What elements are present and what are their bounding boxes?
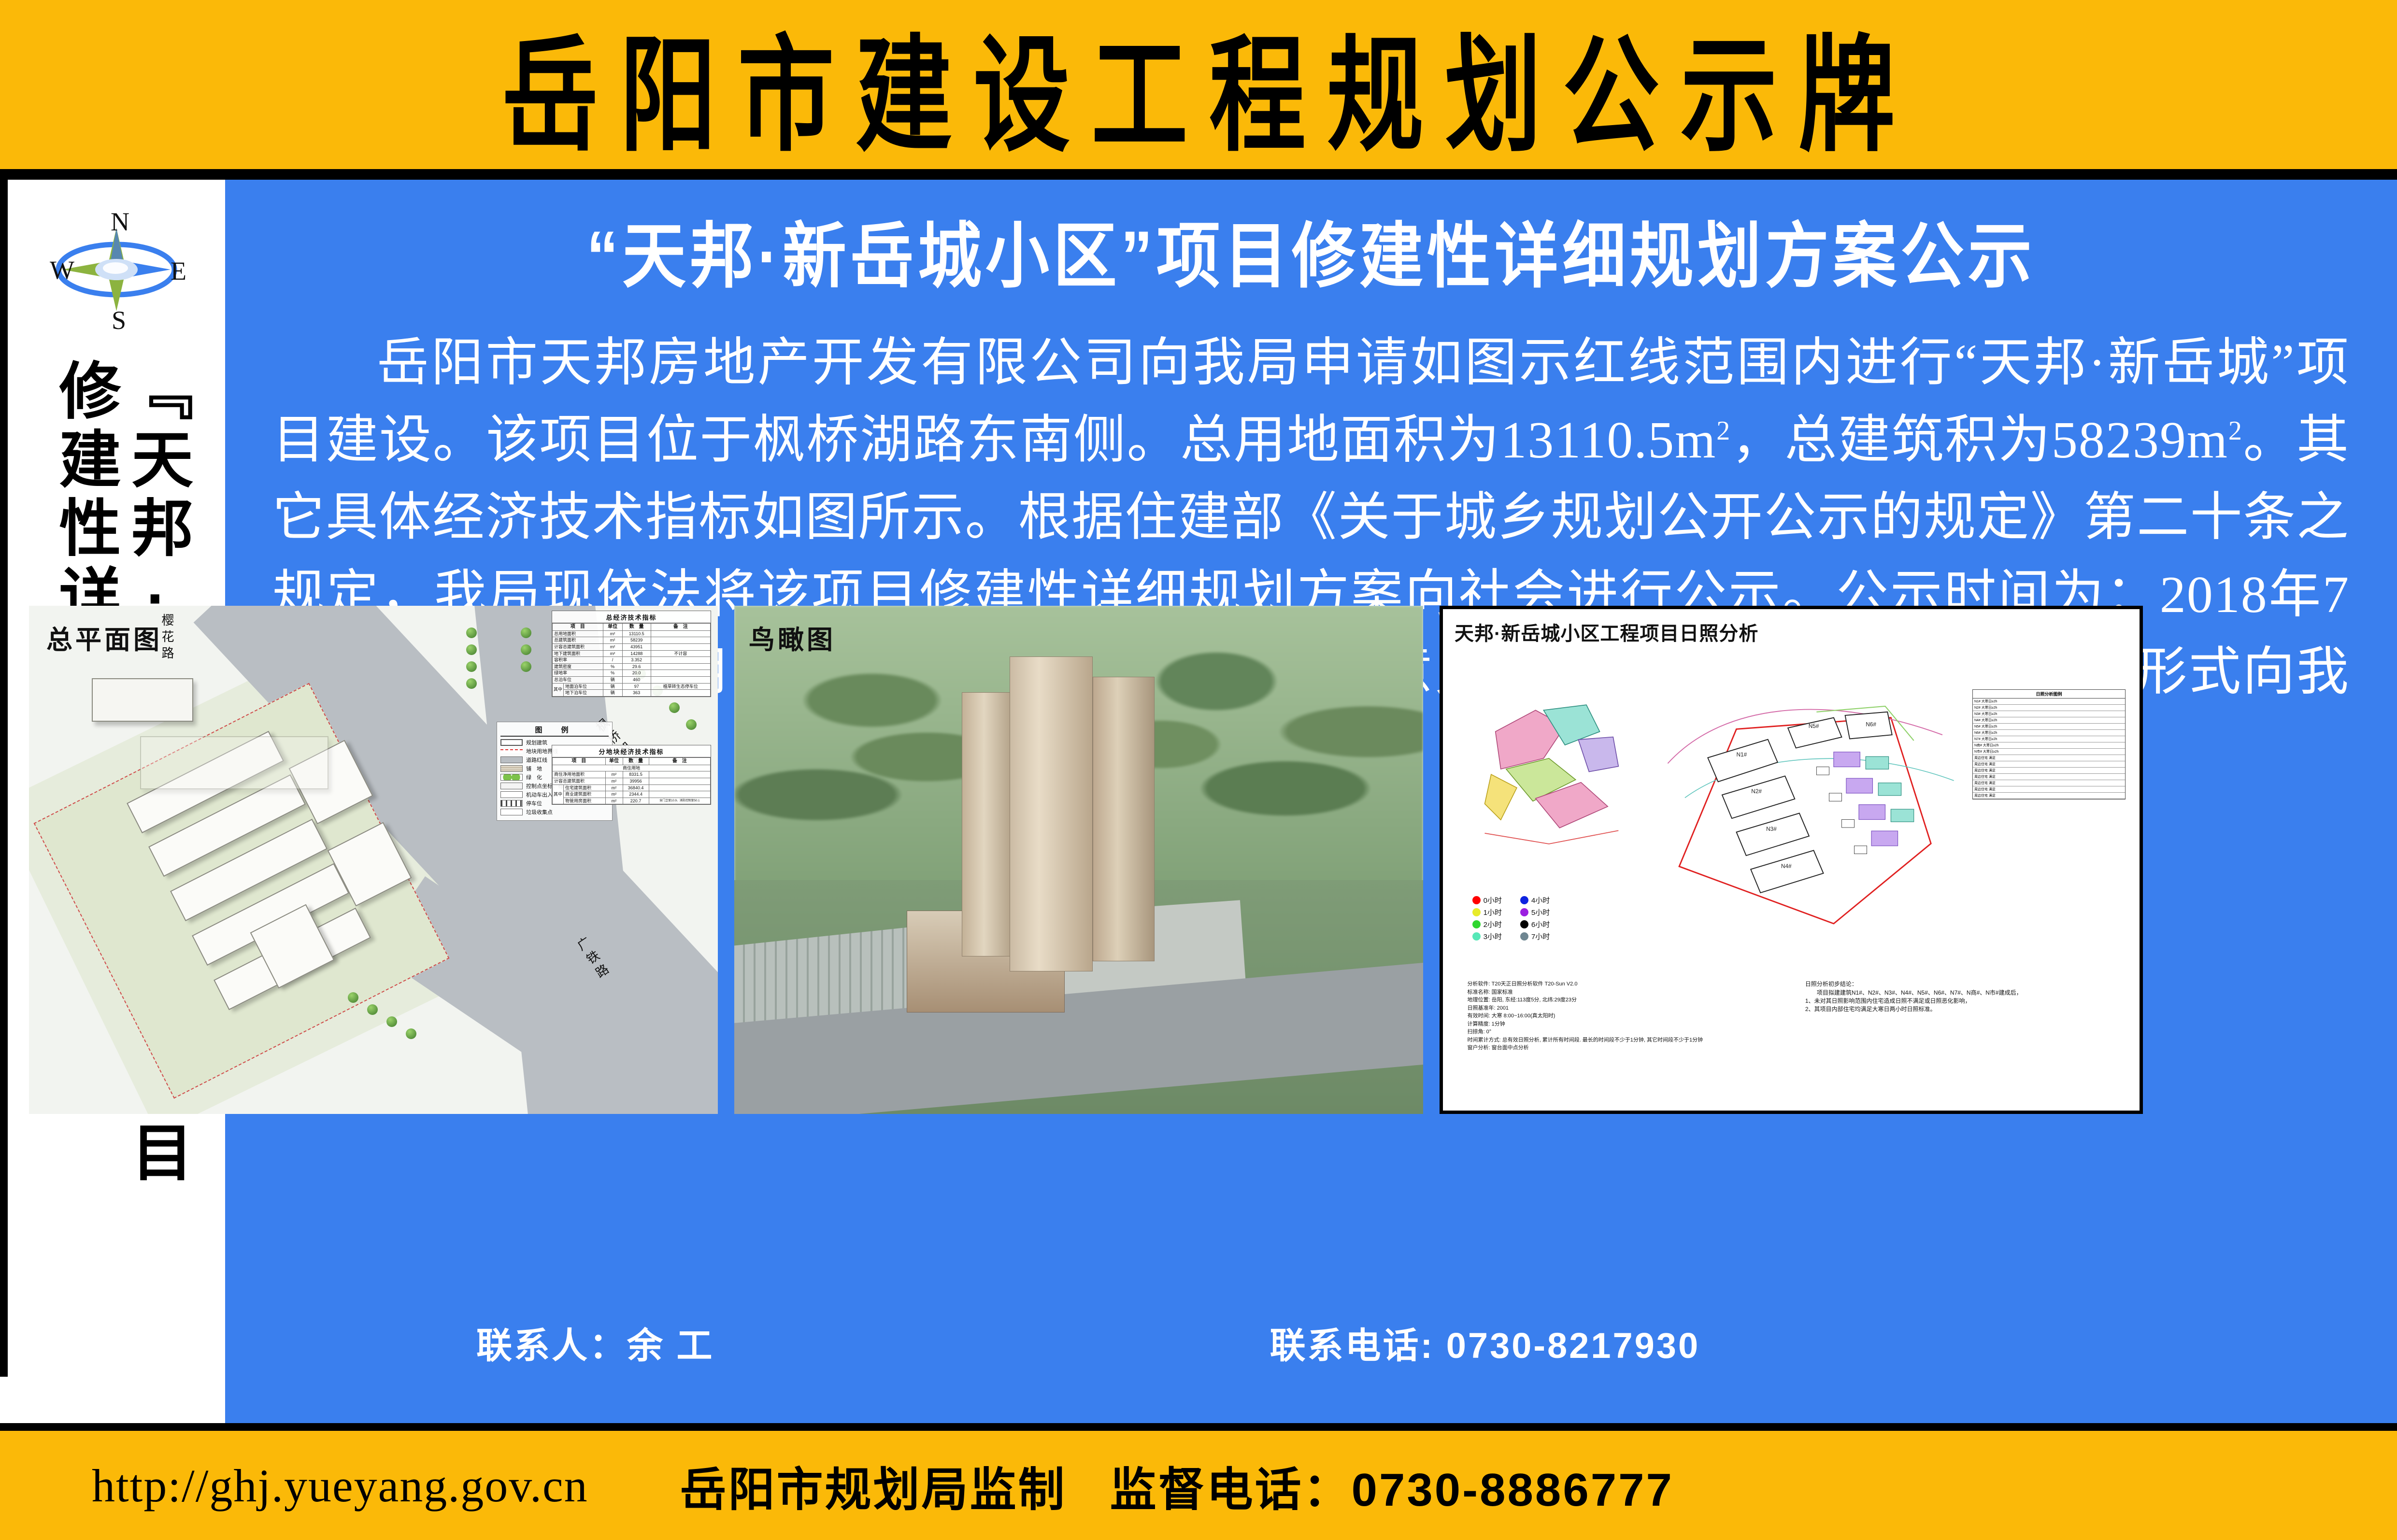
param-line: 扫掠角: 0°	[1467, 1028, 1718, 1036]
cell: 460	[622, 677, 651, 684]
legend-item: 1小时	[1472, 907, 1502, 917]
hour-dot-icon	[1520, 896, 1528, 904]
tree-icon	[406, 1028, 416, 1039]
sunlight-table-title: 日照分析图例	[1973, 690, 2125, 699]
cell: 20.0	[622, 670, 651, 677]
cell: 不计容	[651, 650, 710, 657]
tree-icon	[686, 719, 697, 730]
table-row: 计容总建筑面积m²43951	[553, 644, 711, 651]
table-row: N6# 大寒日≥2h	[1973, 730, 2125, 736]
board-footer: http://ghj.yueyang.gov.cn 岳阳市规划局监制 监督电话：…	[0, 1423, 2397, 1540]
cell	[651, 670, 710, 677]
cell	[651, 677, 710, 684]
table-row: 容积率/3.352	[553, 657, 711, 664]
cell: m²	[603, 630, 622, 637]
param-line: 分析软件: T20天正日照分析软件 T20-Sun V2.0	[1467, 980, 1718, 988]
cell: 住宅建筑面积	[564, 784, 605, 791]
legend-swatch-coordinate-icon	[500, 783, 523, 789]
table: 项 目 单位 数 量 备 注 总用地面积m²13110.5 总建筑面积m²582…	[552, 623, 711, 697]
legend-label: 铺 地	[526, 765, 542, 772]
conclusion-title: 日照分析初步结论：	[1805, 980, 2126, 988]
cell: 总用地面积	[553, 630, 603, 637]
cell: m²	[603, 644, 622, 651]
param-line: 标准名称: 国家标准	[1467, 988, 1718, 997]
legend-label: 2小时	[1484, 919, 1502, 929]
cell: 辆	[603, 683, 622, 690]
compass-west-label: W	[50, 255, 74, 285]
cell: 绿地率	[553, 670, 603, 677]
panel-caption-site-plan: 总平面图	[46, 618, 162, 656]
cell: 容积率	[553, 657, 603, 664]
table: 项 目 单位 数 量 备 注 商住用地 商住净用地面积m²8331.5 计容总建…	[552, 757, 711, 804]
svg-text:N6#: N6#	[1866, 721, 1876, 727]
param-line: 窗户分析: 窗台面中点分析	[1467, 1044, 1718, 1052]
legend-label: 垃圾收集点	[526, 808, 553, 816]
cell: 建筑密度	[553, 663, 603, 670]
cell: 地下建筑面积	[553, 650, 603, 657]
table-row: 周边住宅 满足	[1973, 774, 2125, 780]
legend-swatch-road-icon	[500, 756, 523, 763]
cell: 363	[622, 690, 651, 697]
table-row: 周边住宅 满足	[1973, 780, 2125, 786]
cell	[651, 630, 710, 637]
table-header-cell: 备 注	[651, 624, 710, 631]
table-row: N1# 大寒日≥2h	[1973, 699, 2125, 705]
tree-icon	[386, 1016, 397, 1027]
compass-rose-icon: N S W E	[39, 198, 194, 348]
legend-label: 5小时	[1531, 907, 1550, 917]
table-row: 计容总建筑面积m²39956	[553, 778, 711, 785]
cell: %	[603, 670, 622, 677]
main-panel-bottom-strip	[225, 1402, 2397, 1423]
birds-eye-tower	[1010, 656, 1092, 971]
table-header-cell: 项 目	[553, 758, 606, 765]
table-row: 其中住宅建筑面积m²36840.4	[553, 784, 711, 791]
conclusion-item: 2、其项目内部住宅均满足大寒日两小时日照标准。	[1805, 1005, 2126, 1013]
param-line: 有效时间: 大寒 8:00~16:00(真太阳时)	[1467, 1012, 1718, 1020]
legend-swatch-vehicle-entry-icon	[500, 791, 523, 798]
sunlight-canvas: N1#N2# N3#N4# N5#N6# 日照分析图例 N1# 大寒日≥2h N…	[1443, 609, 2140, 1111]
birds-eye-tower	[962, 692, 1017, 956]
table-row: N5# 大寒日≥2h	[1973, 724, 2125, 730]
table-header-cell: 单位	[603, 624, 622, 631]
legend-label: 绿 化	[526, 773, 542, 781]
legend-item: 5小时	[1520, 907, 1550, 917]
panel-sunlight-analysis[interactable]: N1#N2# N3#N4# N5#N6# 日照分析图例 N1# 大寒日≥2h N…	[1440, 606, 2143, 1114]
cell: m²	[605, 791, 623, 798]
hour-dot-icon	[1520, 908, 1528, 916]
cell: m²	[605, 778, 623, 785]
cell: 地面泊车位	[564, 683, 603, 690]
svg-text:N1#: N1#	[1737, 751, 1747, 758]
announcement-subtitle: “天邦·新岳城小区”项目修建性详细规划方案公示	[254, 208, 2368, 305]
tree-icon	[466, 644, 477, 655]
legend-label: 3小时	[1484, 931, 1502, 941]
svg-text:N3#: N3#	[1766, 826, 1777, 832]
cell: 14288	[622, 650, 651, 657]
table-header-row: 项 目 单位 数 量 备 注	[553, 758, 711, 765]
table-row: 周边住宅 满足	[1973, 755, 2125, 761]
sunlight-shadow-diagram	[1464, 694, 1645, 855]
svg-text:N4#: N4#	[1781, 863, 1792, 870]
legend-swatch-greenery-icon	[500, 774, 523, 781]
cell: 地下泊车位	[564, 690, 603, 697]
legend-label: 1小时	[1484, 907, 1502, 917]
table-header-cell: 单位	[605, 758, 623, 765]
svg-text:N2#: N2#	[1751, 788, 1762, 795]
legend-swatch-boundary-icon	[500, 749, 523, 753]
cell	[651, 690, 710, 697]
tree-icon	[521, 644, 531, 655]
tree-icon	[669, 702, 680, 713]
legend-item: 6小时	[1520, 919, 1550, 929]
tree-icon	[367, 1004, 378, 1015]
table-header-cell: 数 量	[622, 624, 651, 631]
table-row: 周边住宅 满足	[1973, 761, 2125, 768]
cell: 29.6	[622, 663, 651, 670]
cell: 总建筑面积	[553, 637, 603, 644]
param-line: 时间累计方式: 总有效日照分析, 累计所有时间段. 最长的时间段不少于1分钟, …	[1467, 1036, 1718, 1044]
table-row: N2# 大寒日≥2h	[1973, 705, 2125, 711]
table-title: 总经济技术指标	[552, 611, 711, 623]
cell	[651, 663, 710, 670]
cell: m²	[605, 784, 623, 791]
table-row: 周边住宅 满足	[1973, 768, 2125, 774]
hour-dot-icon	[1472, 908, 1481, 916]
tree-icon	[466, 661, 477, 672]
cell: 计容总建筑面积	[553, 644, 603, 651]
table-row: 地下泊车位辆363	[553, 690, 711, 697]
compass-north-label: N	[111, 207, 129, 237]
table-row: 周边住宅 满足	[1973, 786, 2125, 793]
body-text-part2: ，总建筑积为58239m	[1731, 412, 2228, 469]
site-plan-building	[140, 736, 328, 789]
table-row: 其中地面泊车位辆97植草砖生态停车位	[553, 683, 711, 690]
cell: 43951	[622, 644, 651, 651]
legend-label: 7小时	[1531, 931, 1550, 941]
cell: 商住用地	[553, 765, 711, 771]
table-row: 总建筑面积m²58239	[553, 637, 711, 644]
conclusion-lead: 项目拟建建筑N1#、N2#、N3#、N4#、N5#、N6#、N7#、N商#、N市…	[1805, 989, 2126, 997]
legend-label: 规划建筑	[526, 739, 547, 746]
board-header: 岳阳市建设工程规划公示牌	[0, 0, 2397, 169]
footer-supervision-phone: 监督电话：0730-8886777	[1110, 1452, 1674, 1519]
legend-item: 垃圾收集点	[500, 808, 609, 816]
legend-label: 6小时	[1531, 919, 1550, 929]
cell	[649, 791, 710, 798]
cell: m²	[603, 650, 622, 657]
cell: m²	[603, 637, 622, 644]
publicity-board: 岳阳市建设工程规划公示牌 N S W E 『天邦·新岳城小区』项目 修建性详细规…	[0, 0, 2397, 1540]
cell: 含门卫室10.9、消防控制室50.1	[649, 798, 710, 804]
hour-dot-icon	[1472, 932, 1481, 941]
plot-indicators-table: 分地块经济技术指标 项 目 单位 数 量 备 注 商住用地 商住净用地面积m²8…	[552, 745, 711, 805]
legend-item: 2小时	[1472, 919, 1502, 929]
drawing-panels: 樱花路 枫桥湖路 广铁路	[29, 606, 2143, 1114]
panel-site-plan[interactable]: 樱花路 枫桥湖路 广铁路	[29, 606, 718, 1114]
table-row: 地下建筑面积m²14288不计容	[553, 650, 711, 657]
legend-item: 0小时	[1472, 895, 1502, 905]
panel-birds-eye[interactable]: 鸟瞰图	[734, 606, 1423, 1114]
table-title: 分地块经济技术指标	[552, 745, 711, 757]
legend-label: 4小时	[1531, 895, 1550, 905]
cell: 辆	[603, 690, 622, 697]
cell	[649, 771, 710, 778]
table-row: N3# 大寒日≥2h	[1973, 711, 2125, 717]
cell: 商住净用地面积	[553, 771, 606, 778]
cell: m²	[605, 798, 623, 804]
sunlight-analysis-table: 日照分析图例 N1# 大寒日≥2h N2# 大寒日≥2h N3# 大寒日≥2h …	[1972, 689, 2126, 799]
table-section-row: 商住用地	[553, 765, 711, 771]
table-row: 周边住宅 满足	[1973, 793, 2125, 799]
tree-icon	[466, 627, 477, 638]
table-row: N7# 大寒日≥2h	[1973, 736, 2125, 742]
cell: 总泊车位	[553, 677, 603, 684]
header-divider	[0, 169, 2397, 180]
cell: 2344.4	[623, 791, 649, 798]
legend-label: 0小时	[1484, 895, 1502, 905]
cell: 辆	[603, 677, 622, 684]
table-row: 总用地面积m²13110.5	[553, 630, 711, 637]
hour-dot-icon	[1472, 920, 1481, 928]
table-row: N商# 大寒日≥2h	[1973, 742, 2125, 749]
cell	[651, 637, 710, 644]
legend-label: 停车位	[526, 799, 542, 807]
tree-icon	[521, 627, 531, 638]
cell: %	[603, 663, 622, 670]
body-sup-2: 2	[2228, 416, 2243, 446]
param-line: 日照基准年: 2001	[1467, 1004, 1718, 1012]
table-header-cell: 数 量	[623, 758, 649, 765]
panel-caption-birds-eye: 鸟瞰图	[749, 618, 836, 656]
total-indicators-table: 总经济技术指标 项 目 单位 数 量 备 注 总用地面积m²13110.5 总建…	[552, 611, 711, 697]
hour-dot-icon	[1472, 896, 1481, 904]
legend-swatch-parking-icon	[500, 800, 523, 807]
compass-south-label: S	[112, 305, 126, 335]
legend-title: 图 例	[500, 725, 609, 737]
cell	[651, 657, 710, 664]
legend-swatch-building-icon	[500, 739, 523, 746]
table-row: 建筑密度%29.6	[553, 663, 711, 670]
table-row: 物管用房面积m²220.7含门卫室10.9、消防控制室50.1	[553, 798, 711, 804]
svg-text:N5#: N5#	[1809, 723, 1819, 729]
tree-icon	[521, 661, 531, 672]
sunlight-hour-legend: 0小时 4小时 1小时 5小时 2小时 6小时 3小时 7小时	[1472, 895, 1550, 941]
contact-row: 联系人：余 工 联系电话: 0730-8217930	[225, 1311, 2397, 1374]
legend-swatch-paving-icon	[500, 765, 523, 772]
contact-person: 联系人：余 工	[476, 1317, 714, 1369]
cell: 3.352	[622, 657, 651, 664]
page-title: 岳阳市建设工程规划公示牌	[481, 0, 1916, 176]
contact-phone: 联系电话: 0730-8217930	[1270, 1317, 1700, 1369]
cell: /	[603, 657, 622, 664]
cell	[649, 778, 710, 785]
legend-item: 4小时	[1520, 895, 1550, 905]
conclusion-item: 1、未对其日照影响范围内住宅造成日照不满足或日照恶化影响，	[1805, 997, 2126, 1005]
param-line: 计算精度: 1分钟	[1467, 1020, 1718, 1028]
table-row: N4# 大寒日≥2h	[1973, 717, 2125, 724]
cell: 物管用房面积	[564, 798, 605, 804]
cell: 商业建筑面积	[564, 791, 605, 798]
body-sup-1: 2	[1716, 416, 1731, 446]
cell	[649, 784, 710, 791]
table-row: N市# 大寒日≥2h	[1973, 749, 2125, 755]
tree-icon	[348, 992, 358, 1003]
table-header-cell: 项 目	[553, 624, 603, 631]
sunlight-conclusion: 日照分析初步结论： 项目拟建建筑N1#、N2#、N3#、N4#、N5#、N6#、…	[1805, 980, 2126, 1014]
compass-east-label: E	[171, 256, 186, 286]
birds-eye-tower	[1093, 677, 1155, 961]
table-row: 商业建筑面积m²2344.4	[553, 791, 711, 798]
param-line: 地理位置: 岳阳, 东经:113度5分, 北纬:29度23分	[1467, 996, 1718, 1004]
cell: 58239	[622, 637, 651, 644]
cell: 植草砖生态停车位	[651, 683, 710, 690]
footer-organization: 岳阳市规划局监制	[680, 1452, 1067, 1519]
legend-item: 7小时	[1520, 931, 1550, 941]
table-row: 商住净用地面积m²8331.5	[553, 771, 711, 778]
cell: 220.7	[623, 798, 649, 804]
legend-swatch-garbage-icon	[500, 809, 523, 815]
cell: 计容总建筑面积	[553, 778, 606, 785]
legend-label: 道路红线	[526, 756, 547, 764]
footer-website-url[interactable]: http://ghj.yueyang.gov.cn	[92, 1459, 588, 1512]
table-row: 绿地率%20.0	[553, 670, 711, 677]
cell: 8331.5	[623, 771, 649, 778]
tree-icon	[466, 678, 477, 689]
cell: 36840.4	[623, 784, 649, 791]
hour-dot-icon	[1520, 932, 1528, 941]
sunlight-parameters: 分析软件: T20天正日照分析软件 T20-Sun V2.0 标准名称: 国家标…	[1467, 980, 1718, 1052]
legend-item: 3小时	[1472, 931, 1502, 941]
table-header-cell: 备 注	[649, 758, 710, 765]
cell: 97	[622, 683, 651, 690]
table-header-row: 项 目 单位 数 量 备 注	[553, 624, 711, 631]
cell: 13110.5	[622, 630, 651, 637]
panel-caption-sunlight: 天邦·新岳城小区工程项目日照分析	[1455, 618, 1758, 646]
hour-dot-icon	[1520, 920, 1528, 928]
cell: 39956	[623, 778, 649, 785]
sunlight-site-layout: N1#N2# N3#N4# N5#N6#	[1645, 670, 1965, 960]
table-row: 总泊车位辆460	[553, 677, 711, 684]
site-plan-building	[92, 678, 193, 722]
cell: m²	[605, 771, 623, 778]
cell	[651, 644, 710, 651]
